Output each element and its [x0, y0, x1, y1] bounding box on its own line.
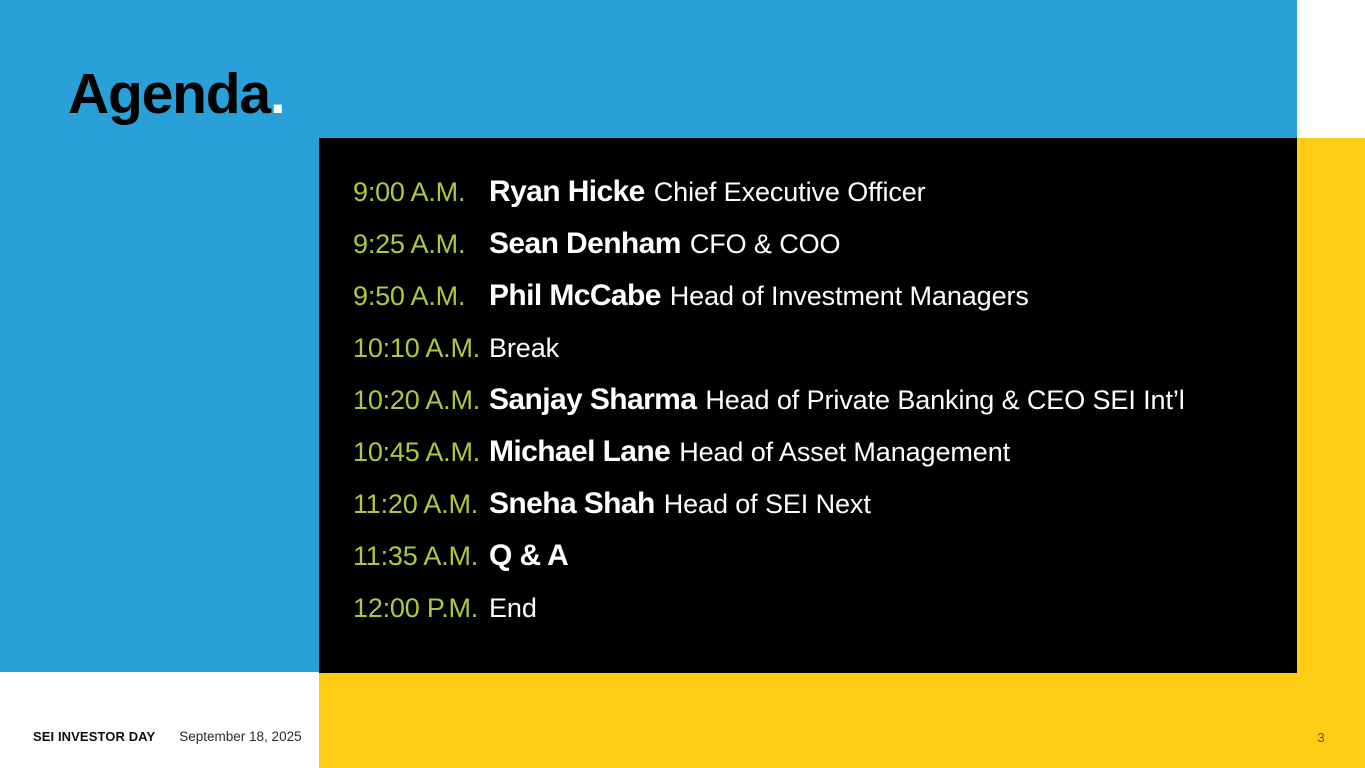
agenda-row-time: 9:50 A.M.	[353, 270, 489, 322]
footer-date-label: September 18, 2025	[179, 729, 301, 744]
agenda-row-time: 9:25 A.M.	[353, 218, 489, 270]
agenda-row-role: Head of SEI Next	[664, 489, 871, 519]
agenda-row-name: Q & A	[489, 539, 568, 572]
agenda-row: 12:00 P.M.End	[353, 582, 1283, 634]
footer: SEI INVESTOR DAYSeptember 18, 2025	[33, 729, 302, 744]
agenda-row-time: 10:45 A.M.	[353, 426, 489, 478]
agenda-row-time: 12:00 P.M.	[353, 582, 489, 634]
agenda-row-role: CFO & COO	[690, 229, 841, 259]
page-title-text: Agenda	[68, 62, 270, 126]
agenda-row-time: 11:20 A.M.	[353, 478, 489, 530]
agenda-row: 9:25 A.M.Sean DenhamCFO & COO	[353, 218, 1283, 270]
agenda-row: 10:20 A.M.Sanjay SharmaHead of Private B…	[353, 374, 1283, 426]
agenda-row-role: Head of Private Banking & CEO SEI Int’l	[705, 385, 1184, 415]
agenda-row-time: 9:00 A.M.	[353, 166, 489, 218]
agenda-row-name: Sean Denham	[489, 227, 681, 260]
agenda-list: 9:00 A.M.Ryan HickeChief Executive Offic…	[353, 166, 1283, 634]
agenda-row: 10:45 A.M.Michael LaneHead of Asset Mana…	[353, 426, 1283, 478]
slide-canvas: Agenda. 9:00 A.M.Ryan HickeChief Executi…	[0, 0, 1365, 768]
agenda-row-name: Ryan Hicke	[489, 175, 645, 208]
page-title: Agenda.	[68, 66, 284, 123]
agenda-row-time: 10:10 A.M.	[353, 322, 489, 374]
agenda-row: 9:50 A.M.Phil McCabeHead of Investment M…	[353, 270, 1283, 322]
page-number: 3	[1306, 730, 1336, 745]
agenda-row-role: Chief Executive Officer	[654, 177, 926, 207]
agenda-row: 11:35 A.M.Q & A	[353, 530, 1283, 582]
agenda-row-time: 11:35 A.M.	[353, 530, 489, 582]
agenda-row: 10:10 A.M.Break	[353, 322, 1283, 374]
agenda-row-name: Phil McCabe	[489, 279, 661, 312]
agenda-row-role: Head of Asset Management	[679, 437, 1010, 467]
agenda-row-name: Sneha Shah	[489, 487, 655, 520]
agenda-row-time: 10:20 A.M.	[353, 374, 489, 426]
agenda-row-role: Head of Investment Managers	[670, 281, 1029, 311]
agenda-row-role: End	[489, 593, 537, 623]
page-title-period: .	[270, 62, 285, 126]
agenda-row: 11:20 A.M.Sneha ShahHead of SEI Next	[353, 478, 1283, 530]
agenda-row-name: Sanjay Sharma	[489, 383, 696, 416]
agenda-row: 9:00 A.M.Ryan HickeChief Executive Offic…	[353, 166, 1283, 218]
agenda-row-role: Break	[489, 333, 559, 363]
footer-brand-label: SEI INVESTOR DAY	[33, 729, 155, 744]
agenda-row-name: Michael Lane	[489, 435, 670, 468]
